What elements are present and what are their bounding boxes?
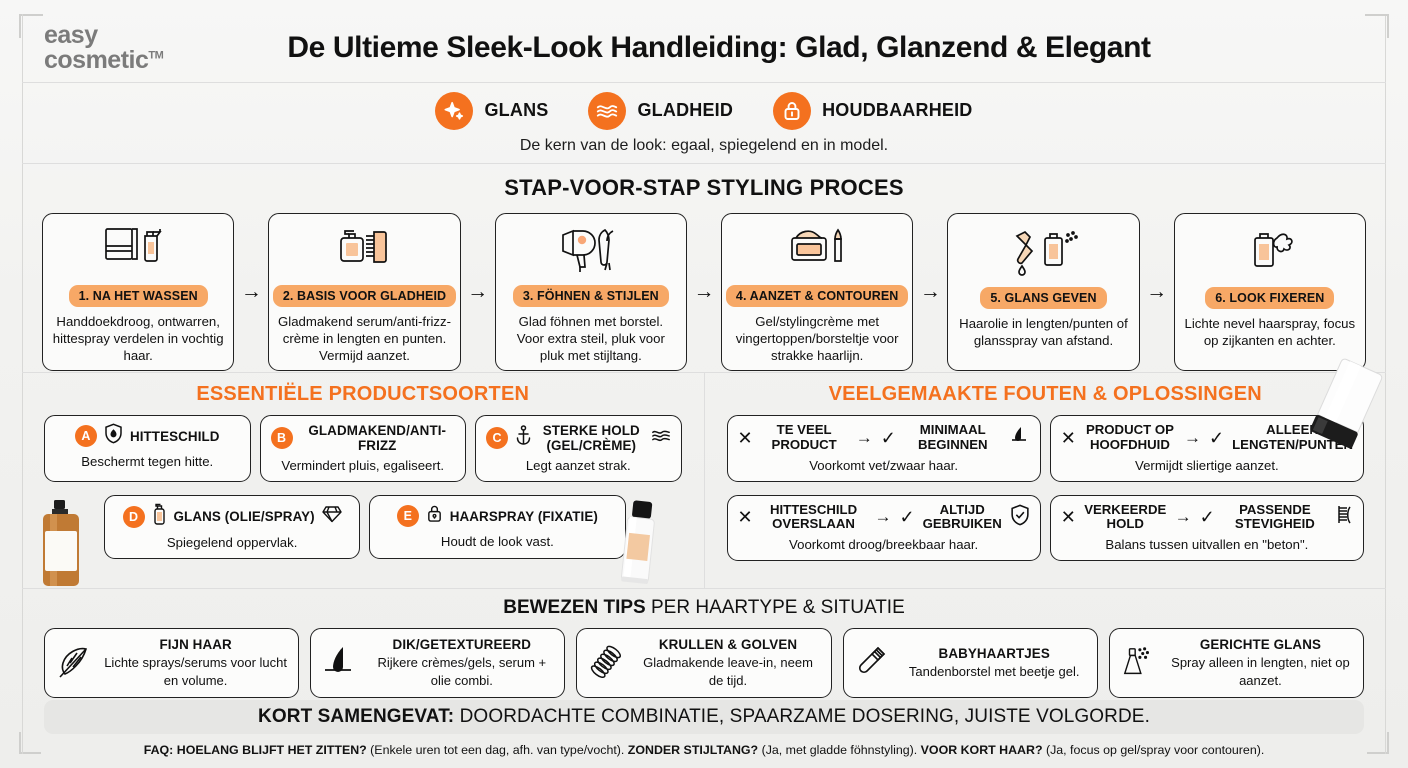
- bottle-icon: [152, 503, 167, 530]
- brand-logo: easy cosmeticTM: [22, 23, 222, 73]
- x-icon: ✕: [1061, 429, 1076, 447]
- product-card-e[interactable]: E HAARSPRAY (FIXATIE) Houdt de look vast…: [369, 495, 625, 559]
- summary-section: KORT SAMENGEVAT: DOORDACHTE COMBINATIE, …: [22, 700, 1386, 757]
- tips-section: BEWEZEN TIPS PER HAARTYPE & SITUATIE FIJ…: [22, 589, 1386, 694]
- step-arrow: →: [461, 213, 495, 371]
- tip-title: FIJN HAAR: [159, 637, 231, 652]
- tip-sub: Spray alleen in lengten, niet op aanzet.: [1171, 655, 1350, 688]
- tip-title: BABYHAARTJES: [939, 646, 1050, 661]
- step-chip: 4. AANZET & CONTOUREN: [726, 285, 909, 307]
- mistake-sub: Balans tussen uitvallen en "beton".: [1061, 537, 1353, 552]
- arrow-icon: →: [856, 428, 873, 448]
- step-chip: 2. BASIS VOOR GLADHEID: [273, 285, 456, 307]
- tip-title: GERICHTE GLANS: [1200, 637, 1321, 652]
- step-text: Lichte nevel haarspray, focus op zijkant…: [1183, 316, 1357, 350]
- product-card-d[interactable]: D GLANS (OLIE/SPRAY): [104, 495, 360, 559]
- faq-line: FAQ: HOELANG BLIJFT HET ZITTEN? (Enkele …: [22, 743, 1386, 757]
- jar-brush-icon: [780, 222, 854, 276]
- step-text: Gladmakend serum/anti-frizz-crème in len…: [277, 314, 451, 365]
- mistakes-section: VEELGEMAAKTE FOUTEN & OPLOSSINGEN ✕ TE V…: [705, 373, 1387, 588]
- badge-letter: A: [75, 425, 97, 447]
- products-row-1: A HITTESCHILD Beschermt tegen hitte.: [22, 415, 704, 482]
- mistake-wrong: PRODUCT OP HOOFDHUID: [1084, 423, 1176, 453]
- waves-icon: [588, 92, 626, 130]
- pillar-houdbaarheid: HOUDBAARHEID: [773, 92, 972, 130]
- mistake-card-3[interactable]: ✕ HITTESCHILD OVERSLAAN → ✓ ALTIJD GEBRU…: [727, 495, 1041, 562]
- pump-comb-icon: [330, 222, 400, 276]
- faq-a2: (Ja, met gladde föhnstyling).: [758, 743, 921, 757]
- badge-letter: B: [271, 427, 293, 449]
- infographic-page: easy cosmeticTM De Ultieme Sleek-Look Ha…: [0, 0, 1408, 768]
- mistake-wrong: VERKEERDE HOLD: [1084, 503, 1167, 533]
- x-icon: ✕: [738, 508, 753, 526]
- tips-title-bold: BEWEZEN TIPS: [503, 597, 646, 618]
- arrow-icon: →: [1175, 507, 1192, 527]
- step-text: Handdoekdroog, ontwarren, hittespray ver…: [51, 314, 225, 365]
- tip-sub: Tandenborstel met beetje gel.: [909, 664, 1080, 679]
- spray-cone-icon: [1119, 644, 1157, 682]
- brand-line1: easy: [44, 23, 222, 48]
- x-icon: ✕: [1061, 508, 1076, 526]
- step-card-3[interactable]: 3. FÖHNEN & STIJLEN Glad föhnen met bors…: [495, 213, 687, 371]
- tip-title: DIK/GETEXTUREERD: [393, 637, 532, 652]
- towel-spray-icon: [101, 222, 175, 276]
- mistake-right: MINIMAAL BEGINNEN: [904, 423, 1002, 453]
- product-sub: Spiegelend oppervlak.: [115, 535, 349, 550]
- badge-letter: C: [486, 427, 508, 449]
- dropper-spray-icon: [1005, 222, 1081, 278]
- pillar-label: HOUDBAARHEID: [822, 100, 972, 121]
- faq-q3: VOOR KORT HAAR?: [921, 743, 1043, 757]
- curl-spring-icon: [586, 644, 624, 682]
- product-title: HAARSPRAY (FIXATIE): [450, 509, 598, 524]
- x-icon: ✕: [738, 429, 753, 447]
- check-icon: ✓: [1200, 508, 1215, 526]
- summary-bar: KORT SAMENGEVAT: DOORDACHTE COMBINATIE, …: [44, 700, 1364, 734]
- step-arrow: →: [1140, 213, 1174, 371]
- tip-sub: Gladmakende leave-in, neem de tijd.: [643, 655, 813, 688]
- product-title: STERKE HOLD (GEL/CRÈME): [539, 423, 644, 453]
- toothbrush-icon: [853, 644, 891, 682]
- mistake-card-1[interactable]: ✕ TE VEEL PRODUCT → ✓ MINIMAAL BEGINNEN …: [727, 415, 1041, 482]
- step-card-5[interactable]: 5. GLANS GEVEN Haarolie in lengten/punte…: [947, 213, 1139, 371]
- gauge-icon: [1335, 504, 1353, 531]
- mistakes-row-2: ✕ HITTESCHILD OVERSLAAN → ✓ ALTIJD GEBRU…: [705, 495, 1387, 562]
- step-card-6[interactable]: 6. LOOK FIXEREN Lichte nevel haarspray, …: [1174, 213, 1366, 371]
- feather-icon: [54, 645, 92, 681]
- mistake-right: ALTIJD GEBRUIKEN: [923, 503, 1002, 533]
- tip-card-2[interactable]: DIK/GETEXTUREERD Rijkere crèmes/gels, se…: [310, 628, 565, 698]
- hairspray-mist-icon: [1235, 222, 1305, 278]
- product-card-b[interactable]: B GLADMAKEND/ANTI-FRIZZ Vermindert pluis…: [260, 415, 467, 482]
- hair-follicle-icon: [1010, 425, 1030, 450]
- product-sub: Vermindert pluis, egaliseert.: [271, 458, 456, 473]
- step-arrow: →: [687, 213, 721, 371]
- mistake-sub: Vermijdt sliertige aanzet.: [1061, 458, 1353, 473]
- sparkle-icon: [435, 92, 473, 130]
- pillar-glans: GLANS: [435, 92, 548, 130]
- header: easy cosmeticTM De Ultieme Sleek-Look Ha…: [22, 14, 1386, 82]
- product-title: HITTESCHILD: [130, 429, 220, 444]
- products-section: ESSENTIËLE PRODUCTSOORTEN A HITTESCHILD: [22, 373, 705, 588]
- tip-card-4[interactable]: BABYHAARTJES Tandenborstel met beetje ge…: [843, 628, 1098, 698]
- tips-title-rest: PER HAARTYPE & SITUATIE: [646, 597, 905, 618]
- product-sub: Beschermt tegen hitte.: [55, 454, 240, 469]
- step-card-1[interactable]: 1. NA HET WASSEN Handdoekdroog, ontwarre…: [42, 213, 234, 371]
- steps-section: STAP-VOOR-STAP STYLING PROCES 1. NA: [22, 165, 1386, 372]
- page-title: De Ultieme Sleek-Look Handleiding: Glad,…: [222, 31, 1386, 65]
- product-card-c[interactable]: C STERKE HOLD (GEL/CRÈME): [475, 415, 682, 482]
- mistake-sub: Voorkomt droog/breekbaar haar.: [738, 537, 1030, 552]
- step-card-4[interactable]: 4. AANZET & CONTOUREN Gel/stylingcrème m…: [721, 213, 913, 371]
- tips-title: BEWEZEN TIPS PER HAARTYPE & SITUATIE: [22, 589, 1386, 619]
- check-icon: ✓: [900, 508, 915, 526]
- faq-q2: ZONDER STIJLTANG?: [628, 743, 758, 757]
- pillar-label: GLADHEID: [637, 100, 733, 121]
- mistakes-row-1: ✕ TE VEEL PRODUCT → ✓ MINIMAAL BEGINNEN …: [705, 415, 1387, 482]
- summary-bold: KORT SAMENGEVAT:: [258, 706, 454, 727]
- step-chip: 5. GLANS GEVEN: [980, 287, 1106, 309]
- mistake-right: ALLEEN LENGTEN/PUNTEN: [1232, 423, 1353, 453]
- check-icon: ✓: [1209, 429, 1224, 447]
- shield-check-icon: [1010, 504, 1030, 531]
- flame-shield-icon: [104, 423, 123, 449]
- step-text: Glad föhnen met borstel. Voor extra stei…: [504, 314, 678, 365]
- pillars-section: GLANS GLADHEID: [22, 83, 1386, 163]
- step-card-2[interactable]: 2. BASIS VOOR GLADHEID Gladmakend serum/…: [268, 213, 460, 371]
- mistake-right: PASSENDE STEVIGHEID: [1223, 503, 1327, 533]
- step-arrow: →: [234, 213, 268, 371]
- tip-sub: Rijkere crèmes/gels, serum + olie combi.: [377, 655, 546, 688]
- step-chip: 1. NA HET WASSEN: [69, 285, 208, 307]
- waves-icon: [651, 428, 671, 448]
- anchor-icon: [515, 425, 532, 452]
- thick-hair-icon: [320, 644, 358, 682]
- tip-card-3[interactable]: KRULLEN & GOLVEN Gladmakende leave-in, n…: [576, 628, 831, 698]
- arrow-icon: →: [1184, 428, 1201, 448]
- diamond-icon: [322, 505, 342, 528]
- check-icon: ✓: [881, 429, 896, 447]
- steps-title: STAP-VOOR-STAP STYLING PROCES: [22, 165, 1386, 201]
- mistake-sub: Voorkomt vet/zwaar haar.: [738, 458, 1030, 473]
- faq-a1: (Enkele uren tot een dag, afh. van type/…: [367, 743, 628, 757]
- dryer-straightener-icon: [553, 222, 629, 276]
- step-text: Gel/stylingcrème met vingertoppen/borste…: [730, 314, 904, 365]
- tip-card-5[interactable]: GERICHTE GLANS Spray alleen in lengten, …: [1109, 628, 1364, 698]
- mistake-card-4[interactable]: ✕ VERKEERDE HOLD → ✓ PASSENDE STEVIGHEID: [1050, 495, 1364, 562]
- tip-title: KRULLEN & GOLVEN: [659, 637, 797, 652]
- pillars-subtitle: De kern van de look: egaal, spiegelend e…: [520, 137, 888, 155]
- product-title: GLADMAKEND/ANTI-FRIZZ: [300, 423, 456, 453]
- faq-q1: FAQ: HOELANG BLIJFT HET ZITTEN?: [144, 743, 367, 757]
- products-title: ESSENTIËLE PRODUCTSOORTEN: [22, 373, 704, 406]
- mistakes-title: VEELGEMAAKTE FOUTEN & OPLOSSINGEN: [705, 373, 1387, 406]
- mistake-wrong: HITTESCHILD OVERSLAAN: [761, 503, 867, 533]
- badge-letter: D: [123, 506, 145, 528]
- divider-pillars: [22, 163, 1386, 164]
- pillar-label: GLANS: [484, 100, 548, 121]
- product-card-a[interactable]: A HITTESCHILD Beschermt tegen hitte.: [44, 415, 251, 482]
- brand-line2: cosmetic: [44, 46, 148, 74]
- tip-card-1[interactable]: FIJN HAAR Lichte sprays/serums voor luch…: [44, 628, 299, 698]
- step-text: Haarolie in lengten/punten of glansspray…: [956, 316, 1130, 350]
- mistake-card-2[interactable]: ✕ PRODUCT OP HOOFDHUID → ✓ ALLEEN LENGTE…: [1050, 415, 1364, 482]
- lock-icon: [426, 503, 443, 529]
- product-title: GLANS (OLIE/SPRAY): [174, 509, 315, 524]
- lock-icon: [773, 92, 811, 130]
- summary-rest: DOORDACHTE COMBINATIE, SPAARZAME DOSERIN…: [454, 706, 1150, 727]
- step-chip: 6. LOOK FIXEREN: [1205, 287, 1334, 309]
- pillar-gladheid: GLADHEID: [588, 92, 733, 130]
- mid-section: ESSENTIËLE PRODUCTSOORTEN A HITTESCHILD: [22, 373, 1386, 588]
- arrow-icon: →: [875, 507, 892, 527]
- step-chip: 3. FÖHNEN & STIJLEN: [513, 285, 669, 307]
- mistake-wrong: TE VEEL PRODUCT: [761, 423, 848, 453]
- brand-tm: TM: [148, 50, 163, 62]
- tip-sub: Lichte sprays/serums voor lucht en volum…: [104, 655, 287, 688]
- step-arrow: →: [913, 213, 947, 371]
- faq-a3: (Ja, focus op gel/spray voor contouren).: [1043, 743, 1265, 757]
- products-row-2: D GLANS (OLIE/SPRAY): [22, 495, 704, 559]
- product-sub: Legt aanzet strak.: [486, 458, 671, 473]
- badge-letter: E: [397, 505, 419, 527]
- product-sub: Houdt de look vast.: [380, 534, 614, 549]
